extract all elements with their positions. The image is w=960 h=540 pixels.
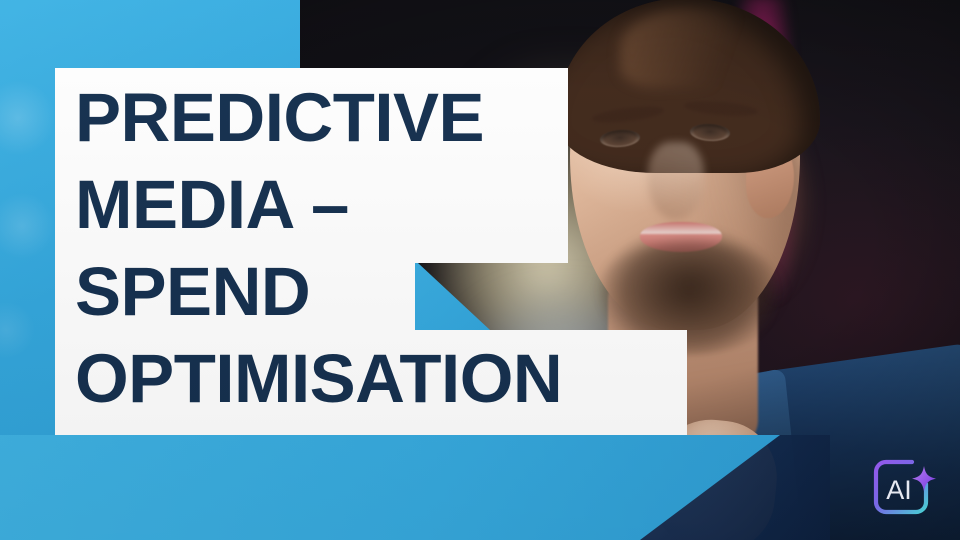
ai-badge: AI <box>866 452 938 524</box>
ai-badge-label: AI <box>886 475 912 505</box>
headline-line-4: OPTIMISATION <box>75 335 687 422</box>
sparkle-icon <box>912 466 936 491</box>
thumbnail-canvas: PREDICTIVE MEDIA – SPEND OPTIMISATION AI <box>0 0 960 540</box>
ai-square-icon: AI <box>866 452 938 524</box>
